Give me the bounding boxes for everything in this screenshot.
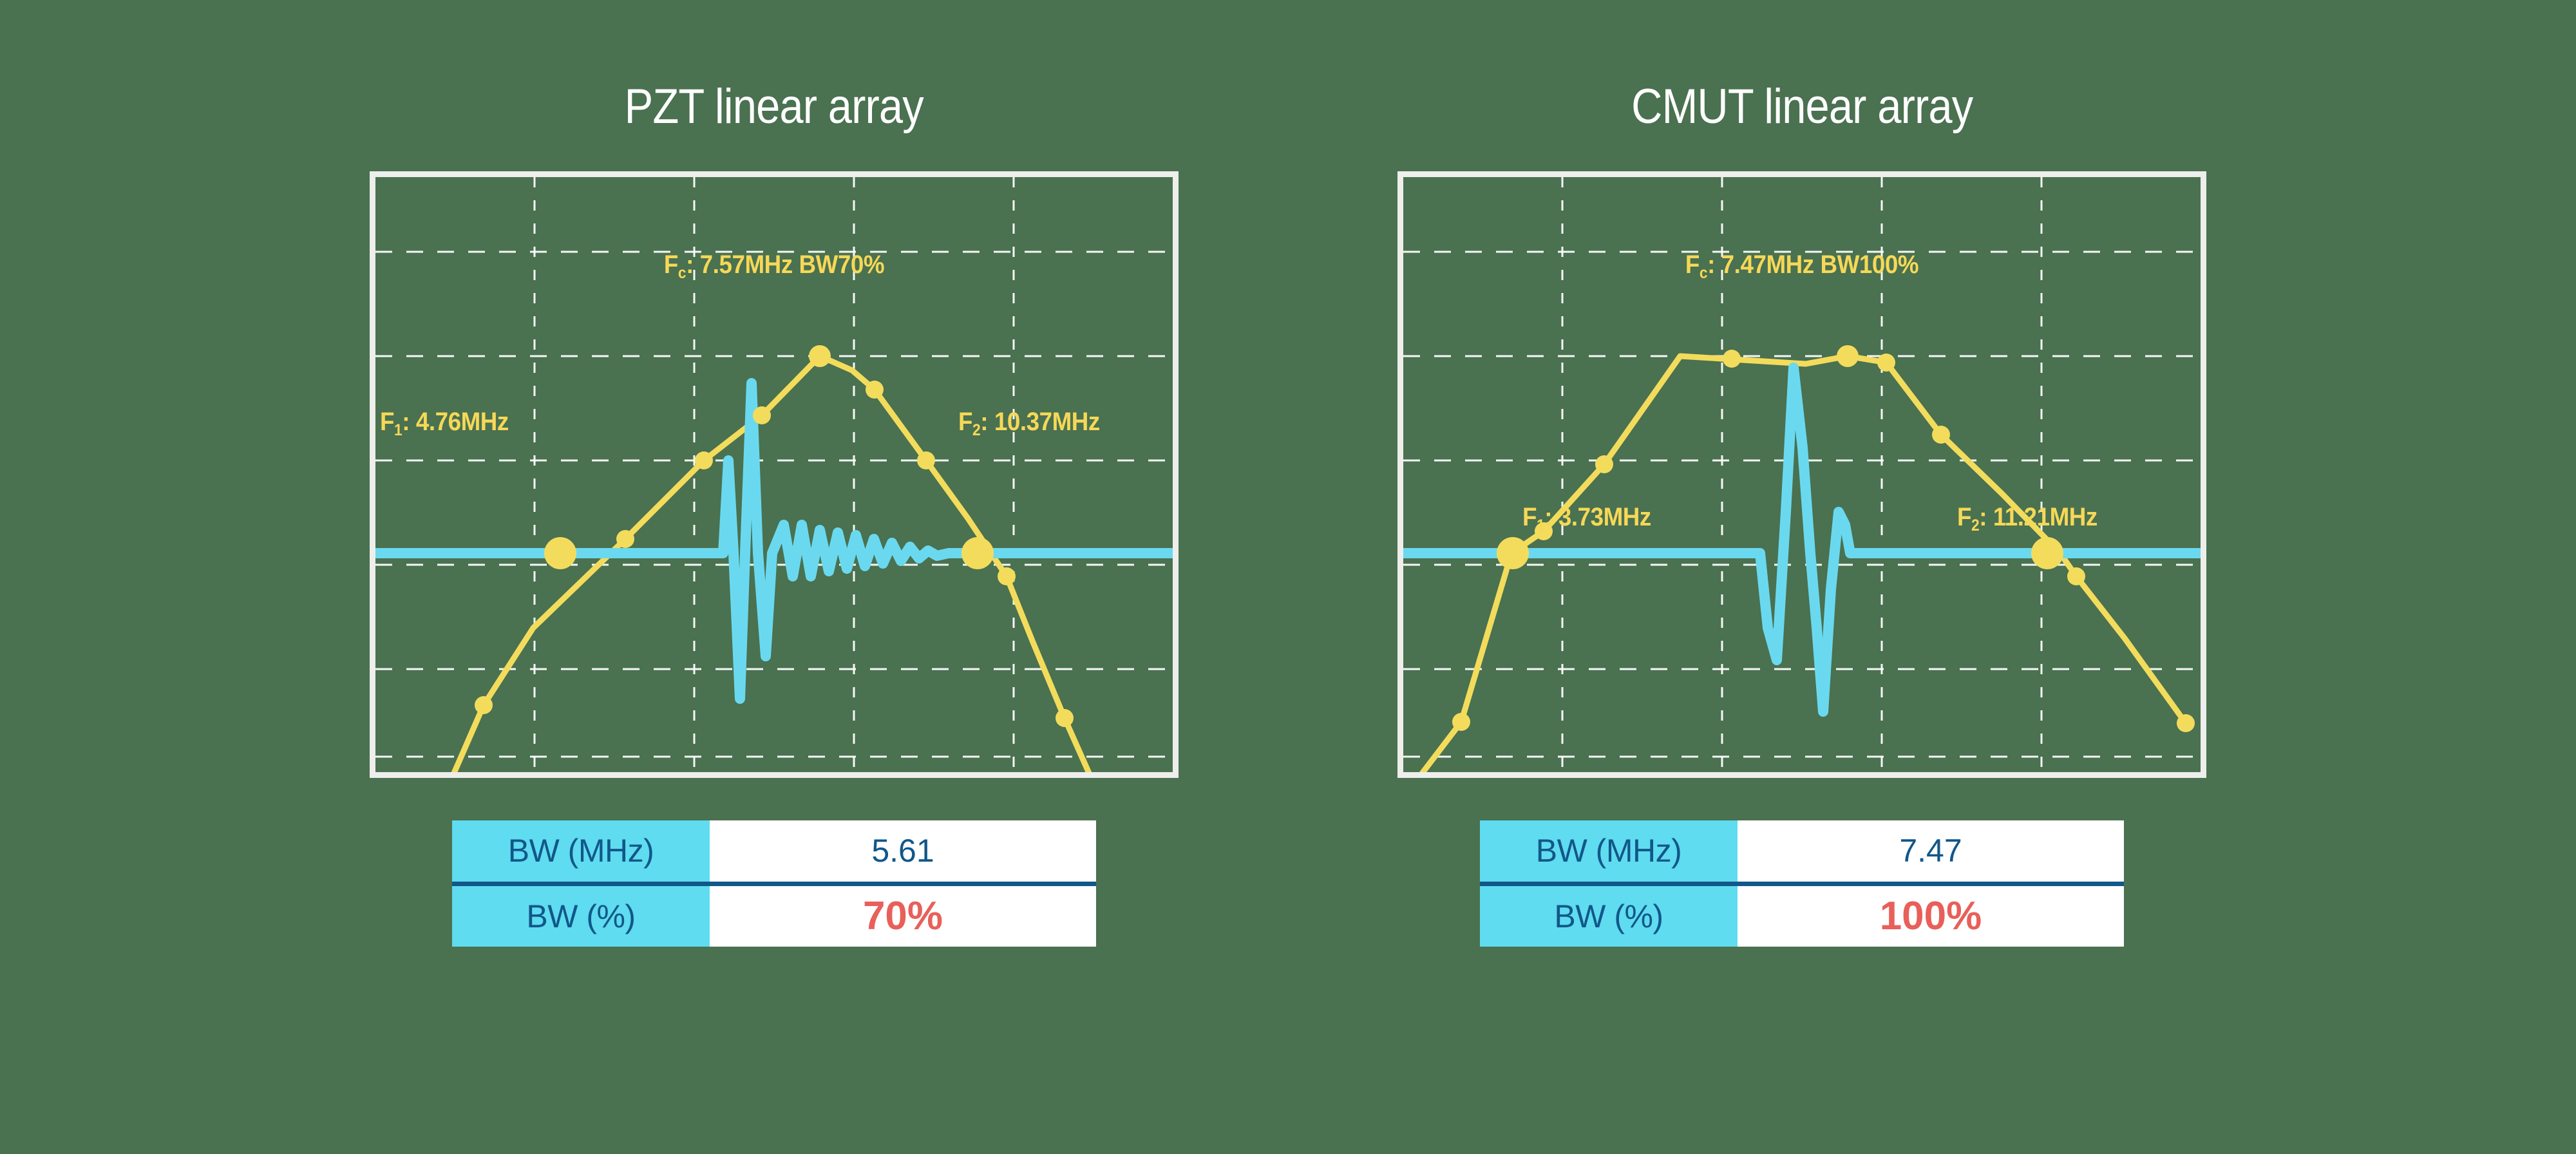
marker-f2-pzt: [961, 537, 994, 569]
row-label: BW (%): [452, 884, 710, 947]
row-label: BW (MHz): [1480, 820, 1738, 884]
annotation-f1-pzt: F1: 4.76MHz: [380, 409, 509, 439]
annotation-fc-cmut: Fc: 7.47MHz BW100%: [1685, 252, 1918, 282]
row-label: BW (MHz): [452, 820, 710, 884]
page-title-cmut: CMUT linear array: [1631, 82, 1973, 131]
chart-pzt: Fc: 7.57MHz BW70% F1: 4.76MHz F2: 10.37M…: [370, 171, 1179, 778]
marker-f1-pzt: [544, 537, 576, 569]
comparison-panels: PZT linear array: [0, 0, 2576, 1154]
bandwidth-table-pzt: BW (MHz) 5.61 BW (%) 70%: [452, 820, 1096, 947]
row-value: 5.61: [710, 820, 1096, 884]
table-row: BW (MHz) 5.61: [452, 820, 1096, 884]
table-row: BW (%) 70%: [452, 884, 1096, 947]
row-value: 7.47: [1738, 820, 2124, 884]
table-row: BW (MHz) 7.47: [1480, 820, 2124, 884]
row-value: 70%: [710, 884, 1096, 947]
annotation-f1-cmut: F1: 3.73MHz: [1522, 504, 1651, 534]
page-title-pzt: PZT linear array: [625, 82, 923, 131]
panel-cmut: CMUT linear array: [1397, 82, 2206, 947]
row-label: BW (%): [1480, 884, 1738, 947]
annotation-f2-cmut: F2: 11.21MHz: [1957, 504, 2098, 534]
marker-f1-cmut: [1497, 537, 1529, 569]
annotation-fc-pzt: Fc: 7.57MHz BW70%: [664, 252, 884, 282]
bandwidth-table-cmut: BW (MHz) 7.47 BW (%) 100%: [1480, 820, 2124, 947]
cmut-impulse-waveform: [1403, 368, 2201, 712]
table-row: BW (%) 100%: [1480, 884, 2124, 947]
row-value: 100%: [1738, 884, 2124, 947]
marker-f2-cmut: [2031, 537, 2063, 569]
annotation-f2-pzt: F2: 10.37MHz: [958, 409, 1100, 439]
gridlines-horizontal: [375, 252, 1173, 757]
panel-pzt: PZT linear array: [370, 82, 1179, 947]
chart-cmut: Fc: 7.47MHz BW100% F1: 3.73MHz F2: 11.21…: [1397, 171, 2206, 778]
